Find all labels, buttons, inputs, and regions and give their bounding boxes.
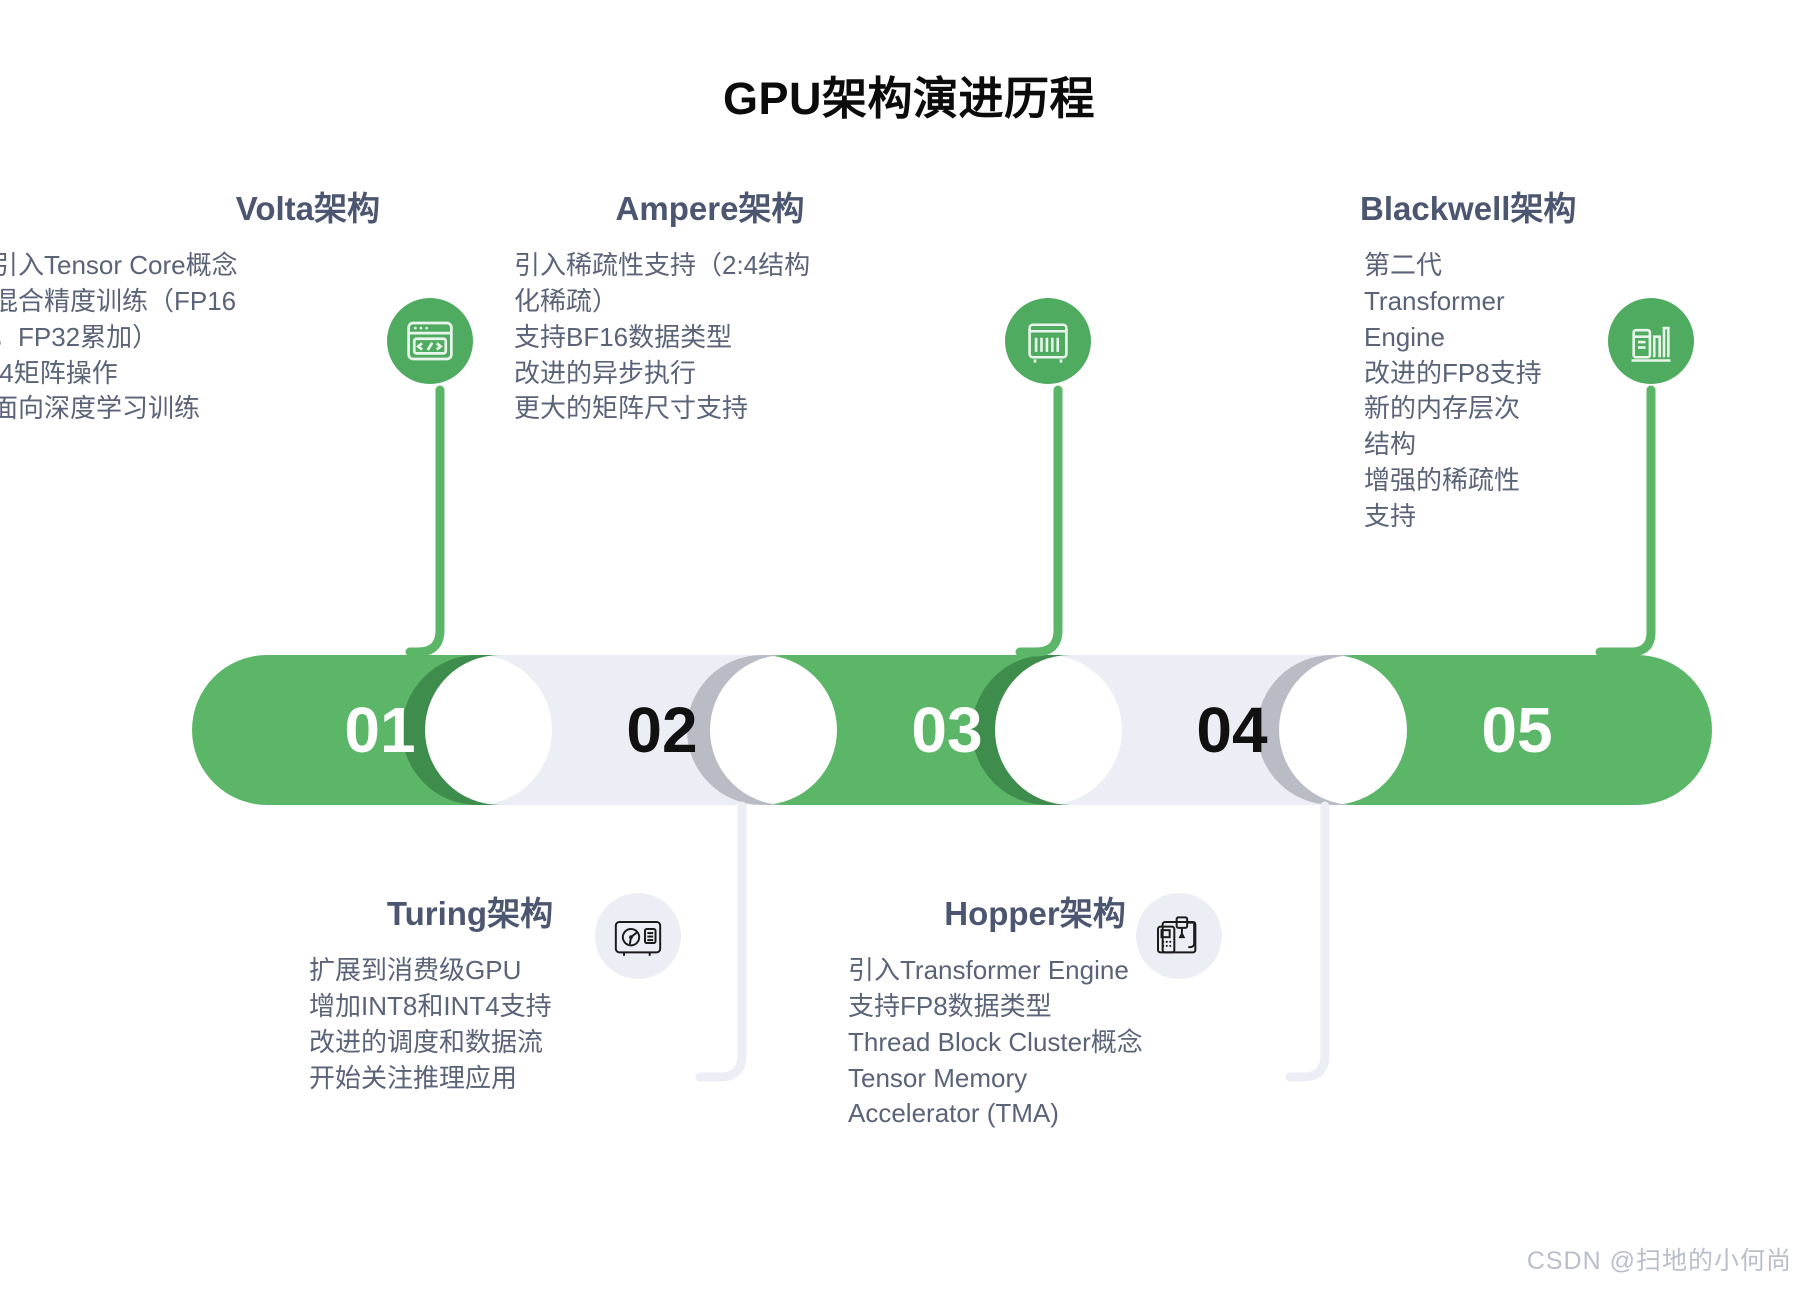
watermark: CSDN @扫地的小何尚 [1527, 1241, 1792, 1277]
step-desc-volta: 首次引入Tensor Core概念 支持混合精度训练（FP16 输入，FP32累… [0, 248, 380, 427]
step-block-ampere: Ampere架构 引入稀疏性支持（2:4结构 化稀疏） 支持BF16数据类型 改… [500, 190, 920, 427]
step-heading-volta: Volta架构 [0, 190, 380, 228]
code-window-icon [387, 298, 473, 384]
step-block-volta: Volta架构 首次引入Tensor Core概念 支持混合精度训练（FP16 … [0, 190, 380, 427]
step-desc-blackwell: 第二代 Transformer Engine 改进的FP8支持 新的内存层次 结… [1360, 248, 1660, 535]
step-heading-blackwell: Blackwell架构 [1360, 190, 1660, 228]
step-block-turing: Turing架构 扩展到消费级GPU 增加INT8和INT4支持 改进的调度和数… [255, 895, 685, 1096]
step-desc-turing: 扩展到消费级GPU 增加INT8和INT4支持 改进的调度和数据流 开始关注推理… [255, 953, 685, 1097]
step-heading-hopper: Hopper架构 [820, 895, 1250, 933]
connector-01 [410, 390, 440, 652]
step-block-blackwell: Blackwell架构 第二代 Transformer Engine 改进的FP… [1360, 190, 1660, 535]
server-rack-icon [1005, 298, 1091, 384]
step-block-hopper: Hopper架构 引入Transformer Engine 支持FP8数据类型 … [820, 895, 1250, 1132]
connector-04 [1290, 806, 1325, 1077]
infographic-canvas: GPU架构演进历程 01 02 03 04 [0, 0, 1818, 1291]
step-heading-turing: Turing架构 [255, 895, 685, 933]
step-heading-ampere: Ampere架构 [500, 190, 920, 228]
connector-02 [700, 806, 742, 1077]
connector-03 [1020, 390, 1058, 652]
step-desc-ampere: 引入稀疏性支持（2:4结构 化稀疏） 支持BF16数据类型 改进的异步执行 更大… [500, 248, 920, 427]
step-desc-hopper: 引入Transformer Engine 支持FP8数据类型 Thread Bl… [820, 953, 1250, 1132]
